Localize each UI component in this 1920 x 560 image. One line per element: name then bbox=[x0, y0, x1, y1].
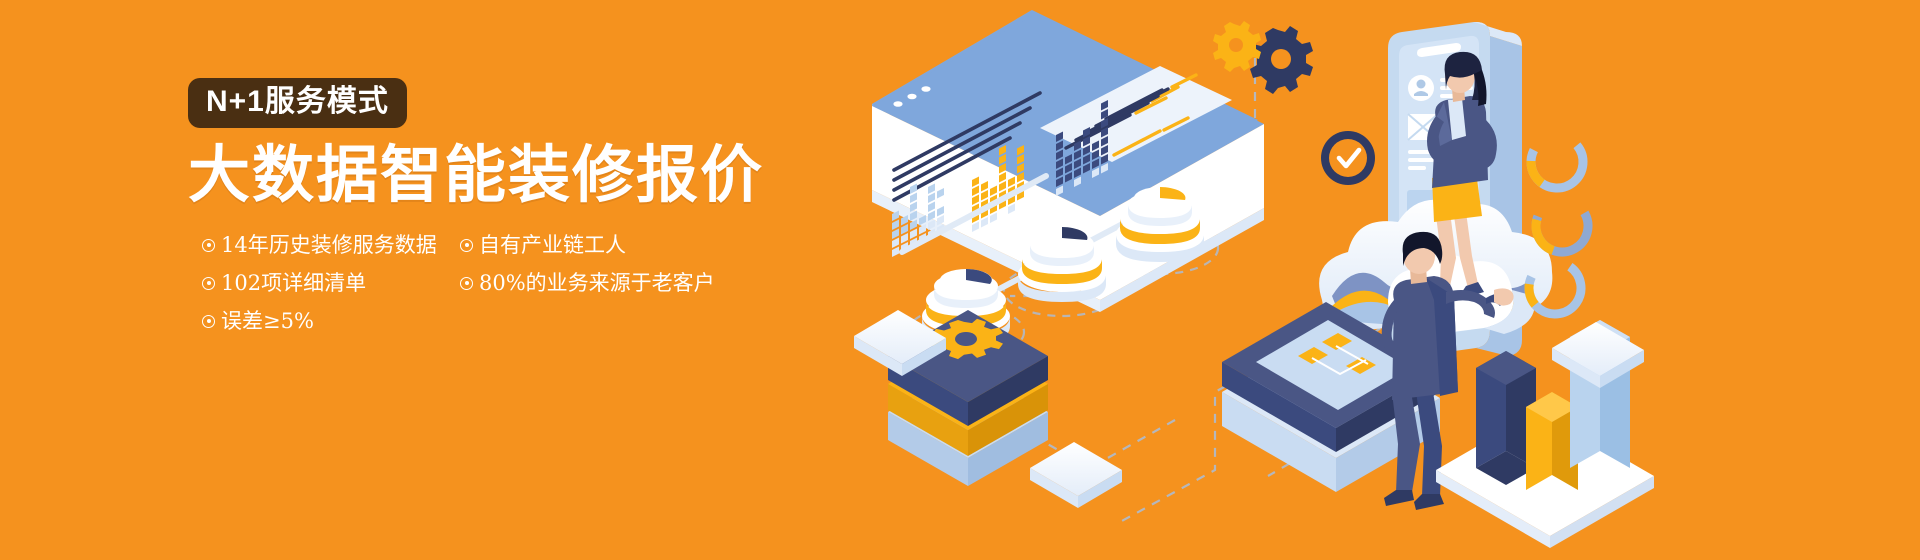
service-mode-tag: N+1服务模式 bbox=[188, 78, 407, 128]
gear-yellow bbox=[1213, 21, 1261, 72]
donut-ring-1 bbox=[1520, 125, 1593, 198]
bullet-label: 自有产业链工人 bbox=[479, 232, 626, 258]
list-item: 误差≥5% bbox=[202, 308, 460, 334]
floating-tile-3 bbox=[1552, 322, 1644, 388]
circle-dot-icon bbox=[460, 239, 473, 252]
promo-banner: N+1服务模式 大数据智能装修报价 14年历史装修服务数据 自有产业链工人 10… bbox=[0, 0, 1920, 560]
circle-dot-icon bbox=[460, 277, 473, 290]
bullet-label: 误差≥5% bbox=[221, 308, 314, 334]
bullet-label: 102项详细清单 bbox=[221, 270, 366, 296]
list-item: 80%的业务来源于老客户 bbox=[460, 270, 848, 296]
circle-dot-icon bbox=[202, 277, 215, 290]
circle-dot-icon bbox=[202, 315, 215, 328]
headline-text-block: N+1服务模式 大数据智能装修报价 14年历史装修服务数据 自有产业链工人 10… bbox=[188, 78, 848, 378]
list-item: 102项详细清单 bbox=[202, 270, 460, 296]
list-item: 自有产业链工人 bbox=[460, 232, 848, 258]
floating-tile-2 bbox=[1030, 442, 1122, 508]
page-title: 大数据智能装修报价 bbox=[188, 142, 848, 208]
feature-bullet-list: 14年历史装修服务数据 自有产业链工人 102项详细清单 80%的业务来源于老客… bbox=[202, 226, 848, 340]
circle-dot-icon bbox=[202, 239, 215, 252]
check-badge bbox=[1321, 131, 1375, 185]
list-item: 14年历史装修服务数据 bbox=[202, 232, 460, 258]
bullet-label: 14年历史装修服务数据 bbox=[221, 232, 437, 258]
bullet-label: 80%的业务来源于老客户 bbox=[479, 270, 715, 296]
